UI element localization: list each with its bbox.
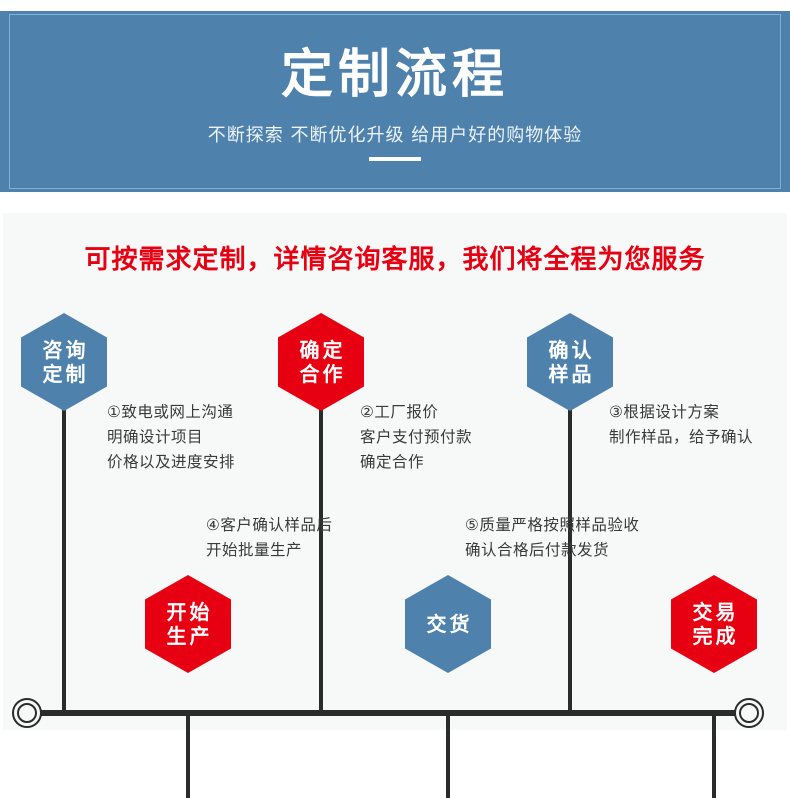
- flow-node-confirm-sample[interactable]: 确认 样品: [527, 313, 613, 411]
- step-description-line: ④客户确认样品后: [206, 513, 332, 538]
- step-description-line: 确定合作: [360, 450, 472, 475]
- flow-node-label-line1: 确定: [297, 338, 346, 362]
- step-description-4: ④客户确认样品后 开始批量生产: [206, 513, 332, 563]
- stem-node-5: [446, 713, 450, 798]
- step-description-line: ②工厂报价: [360, 400, 472, 425]
- step-description-line: 开始批量生产: [206, 538, 332, 563]
- headline-text: 可按需求定制，详情咨询客服，我们将全程为您服务: [3, 239, 787, 276]
- timeline-start-marker: [12, 698, 42, 728]
- step-description-line: 价格以及进度安排: [107, 450, 235, 475]
- header-banner: 定制流程 不断探索 不断优化升级 给用户好的购物体验: [0, 11, 790, 192]
- step-description-1: ①致电或网上沟通 明确设计项目 价格以及进度安排: [107, 400, 235, 475]
- flow-node-label-line2: 完成: [690, 624, 739, 648]
- stem-node-1: [62, 399, 66, 711]
- page-title: 定制流程: [0, 48, 790, 103]
- page-subtitle: 不断探索 不断优化升级 给用户好的购物体验: [0, 121, 790, 147]
- flow-node-consult-customize[interactable]: 咨询 定制: [21, 313, 107, 411]
- flow-node-start-production[interactable]: 开始 生产: [145, 575, 231, 673]
- flow-node-label-line1: 确认: [546, 338, 595, 362]
- flow-node-label-line2: 样品: [546, 362, 595, 386]
- flow-node-label-line1: 咨询: [40, 338, 89, 362]
- content-panel: 可按需求定制，详情咨询客服，我们将全程为您服务 咨询 定制 确定 合作 确认 样…: [3, 213, 787, 730]
- step-description-line: ①致电或网上沟通: [107, 400, 235, 425]
- stem-node-6: [712, 713, 716, 798]
- step-description-line: ⑤质量严格按照样品验收: [465, 513, 639, 538]
- title-underline-rule: [369, 157, 421, 161]
- flow-node-transaction-complete[interactable]: 交易 完成: [671, 575, 757, 673]
- step-description-3: ③根据设计方案 制作样品，给予确认: [609, 400, 753, 450]
- step-description-line: 客户支付预付款: [360, 425, 472, 450]
- flow-node-label-line2: 生产: [164, 624, 213, 648]
- flow-node-label-line1: 交货: [424, 612, 473, 636]
- flow-node-label-line2: 定制: [40, 362, 89, 386]
- customization-process-infographic: 定制流程 不断探索 不断优化升级 给用户好的购物体验 可按需求定制，详情咨询客服…: [0, 0, 790, 740]
- flow-node-label-line2: 合作: [297, 362, 346, 386]
- step-description-5: ⑤质量严格按照样品验收 确认合格后付款发货: [465, 513, 639, 563]
- step-description-line: 确认合格后付款发货: [465, 538, 639, 563]
- timeline-end-marker: [734, 698, 764, 728]
- stem-node-4: [186, 713, 190, 798]
- flow-node-delivery[interactable]: 交货: [405, 575, 491, 673]
- timeline-axis: [27, 710, 747, 716]
- step-description-line: 制作样品，给予确认: [609, 425, 753, 450]
- flow-node-label-line1: 交易: [690, 600, 739, 624]
- step-description-line: 明确设计项目: [107, 425, 235, 450]
- flow-node-confirm-cooperation[interactable]: 确定 合作: [278, 313, 364, 411]
- flow-node-label-line1: 开始: [164, 600, 213, 624]
- step-description-line: ③根据设计方案: [609, 400, 753, 425]
- step-description-2: ②工厂报价 客户支付预付款 确定合作: [360, 400, 472, 475]
